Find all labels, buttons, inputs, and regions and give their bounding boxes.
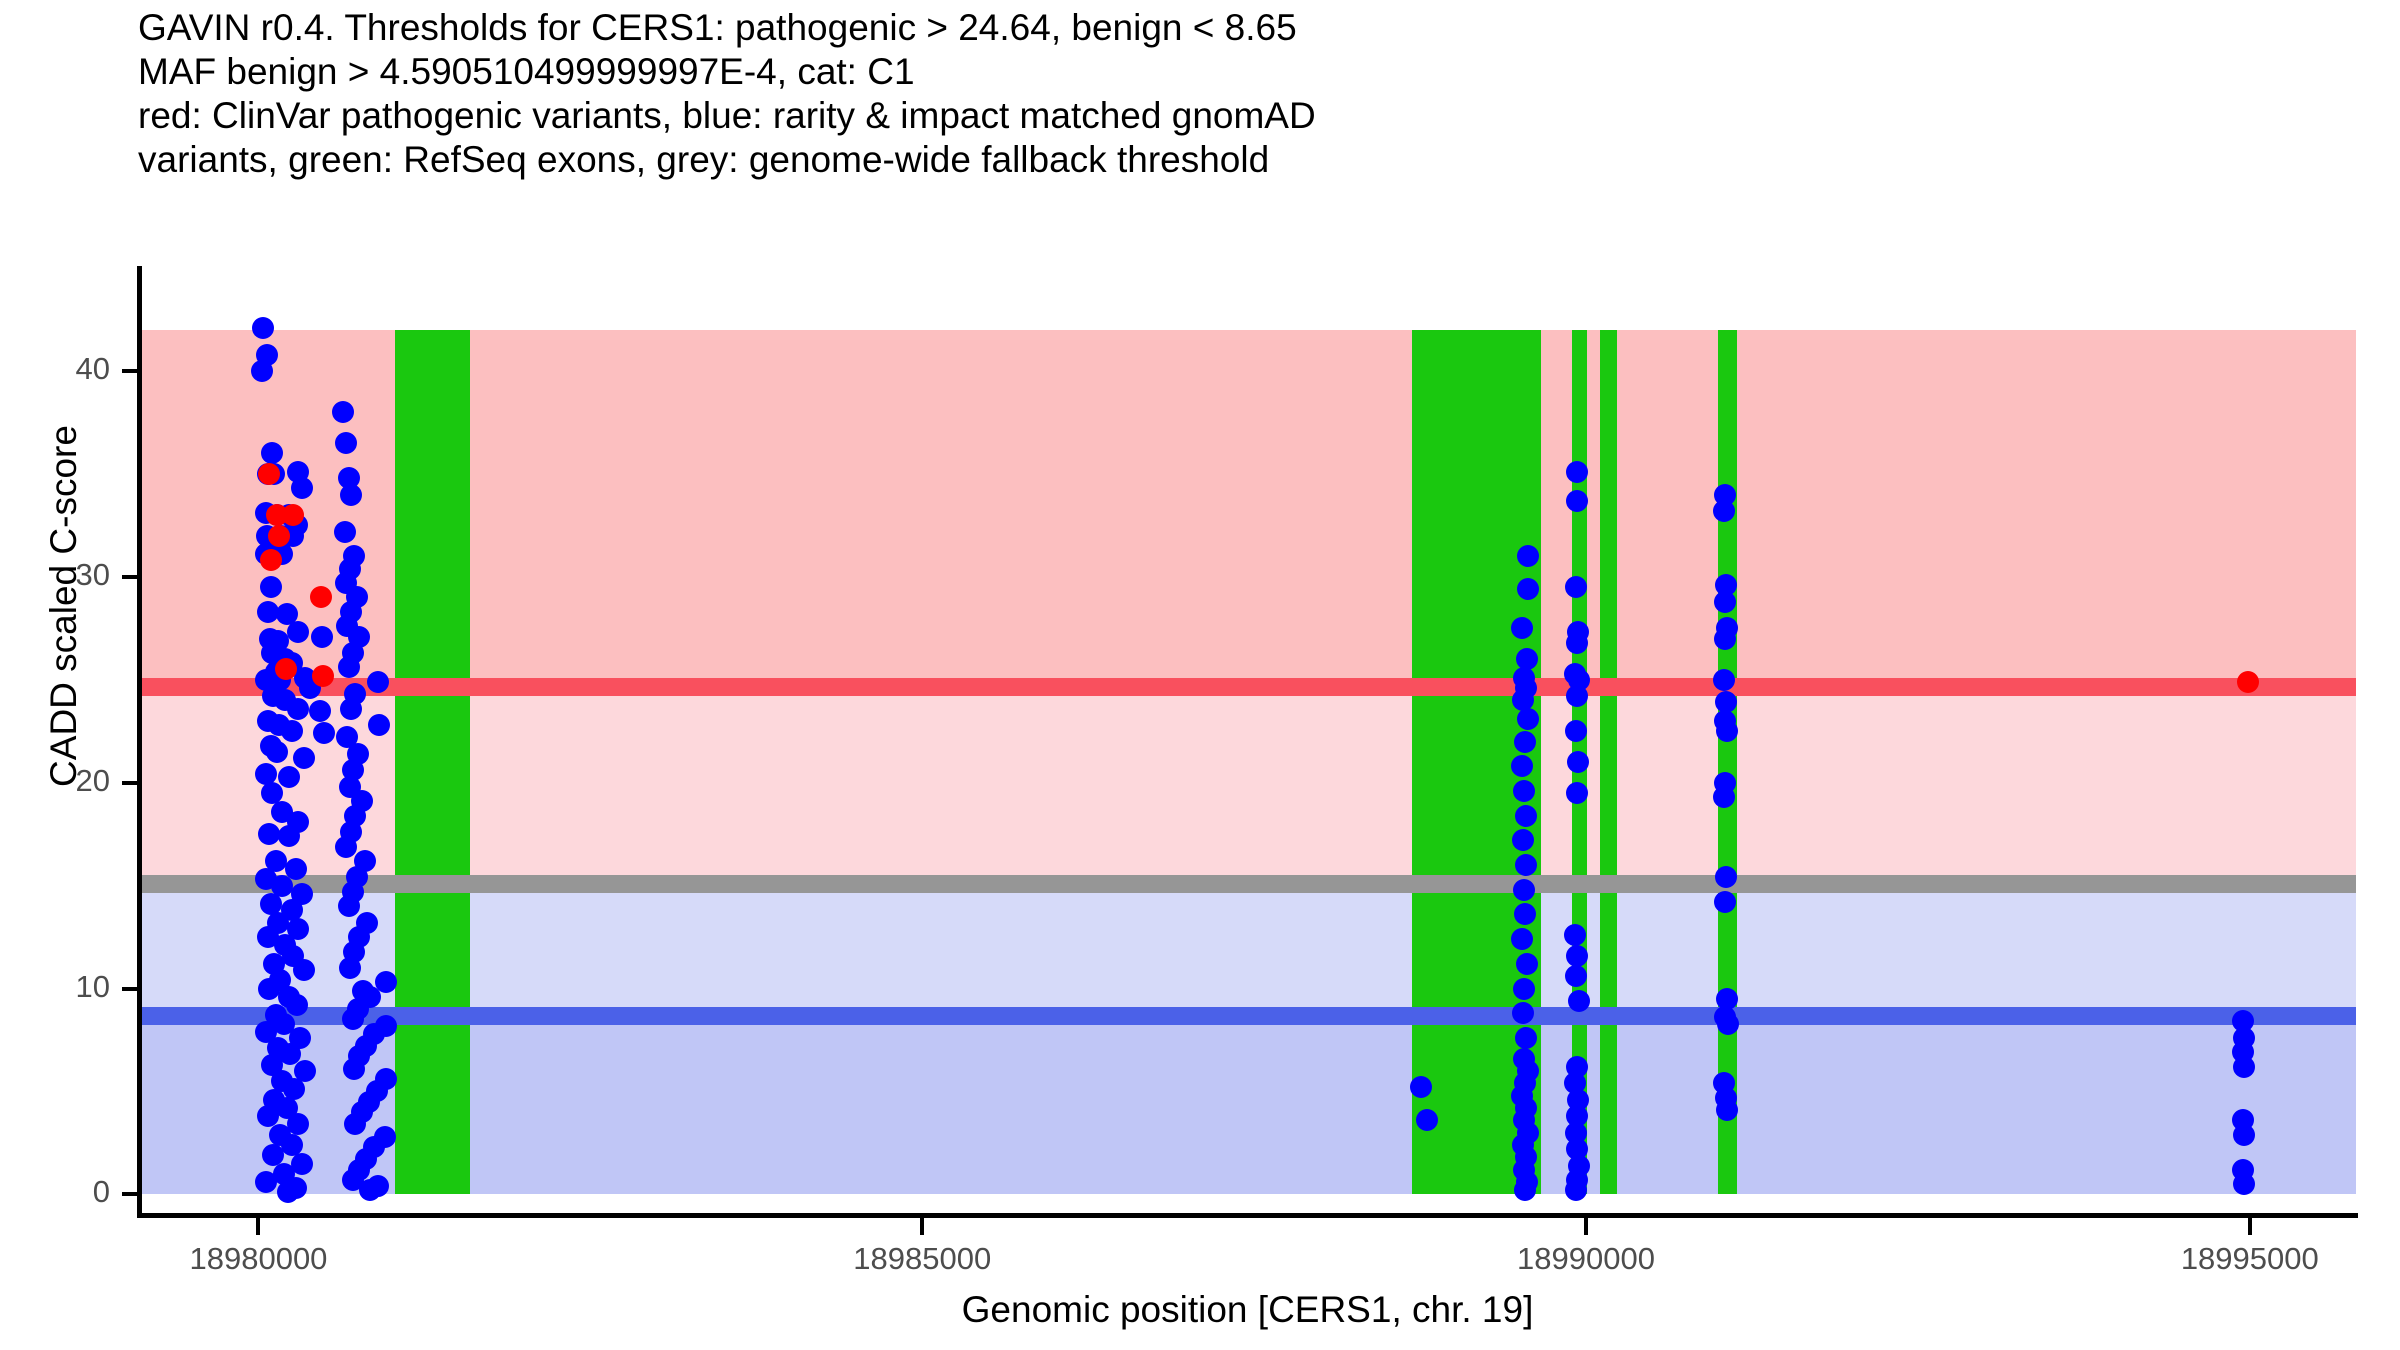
- title-line-2: MAF benign > 4.590510499999997E-4, cat: …: [138, 50, 2378, 94]
- y-axis-title-wrap: CADD scaled C-score: [0, 0, 60, 1350]
- clinvar-point: [260, 549, 282, 571]
- gnomad-point: [1516, 953, 1538, 975]
- gnomad-point: [1567, 751, 1589, 773]
- clinvar-point: [258, 463, 280, 485]
- gnomad-point: [1713, 500, 1735, 522]
- y-axis-tick: [122, 575, 139, 579]
- y-axis-tick: [122, 369, 139, 373]
- gnomad-point: [1716, 720, 1738, 742]
- gnomad-point: [1515, 854, 1537, 876]
- gnomad-point: [258, 978, 280, 1000]
- gnomad-point: [1568, 990, 1590, 1012]
- x-axis-tick: [2248, 1218, 2252, 1235]
- y-axis-tick-label: 0: [0, 1174, 110, 1210]
- gnomad-point: [334, 521, 356, 543]
- gnomad-point: [1513, 879, 1535, 901]
- gnomad-point: [1713, 669, 1735, 691]
- exon-band: [1600, 330, 1617, 1195]
- gnomad-point: [2233, 1124, 2255, 1146]
- title-line-1: GAVIN r0.4. Thresholds for CERS1: pathog…: [138, 6, 2378, 50]
- gnomad-point: [1714, 891, 1736, 913]
- vus-band: [139, 687, 2356, 883]
- gnomad-point: [277, 1181, 299, 1203]
- gnomad-point: [1515, 805, 1537, 827]
- pathogenic-threshold-line: [139, 678, 2356, 696]
- benign-threshold-line: [139, 1007, 2356, 1025]
- gnomad-point: [367, 671, 389, 693]
- y-axis-tick-label: 30: [0, 557, 110, 593]
- gnomad-point: [311, 626, 333, 648]
- x-axis-tick: [920, 1218, 924, 1235]
- gnomad-point: [340, 698, 362, 720]
- y-axis-tick: [122, 1192, 139, 1196]
- gnomad-point: [1714, 628, 1736, 650]
- y-axis-tick-label: 10: [0, 969, 110, 1005]
- clinvar-point: [268, 525, 290, 547]
- gnomad-point: [252, 317, 274, 339]
- chart-root: GAVIN r0.4. Thresholds for CERS1: pathog…: [0, 0, 2400, 1350]
- gnomad-point: [2233, 1173, 2255, 1195]
- gnomad-point: [359, 1179, 381, 1201]
- x-axis-line: [137, 1213, 2358, 1218]
- gnomad-point: [335, 432, 357, 454]
- title-line-4: variants, green: RefSeq exons, grey: gen…: [138, 138, 2378, 182]
- gnomad-point: [1517, 708, 1539, 730]
- fallback-threshold-line: [139, 875, 2356, 893]
- x-axis-tick-label: 18990000: [1436, 1241, 1736, 1277]
- gnomad-point: [1566, 632, 1588, 654]
- chart-title-block: GAVIN r0.4. Thresholds for CERS1: pathog…: [138, 6, 2378, 182]
- gnomad-point: [1566, 945, 1588, 967]
- gnomad-point: [1514, 731, 1536, 753]
- clinvar-point: [312, 665, 334, 687]
- y-axis-line: [137, 266, 142, 1215]
- title-line-3: red: ClinVar pathogenic variants, blue: …: [138, 94, 2378, 138]
- gnomad-point: [293, 747, 315, 769]
- gnomad-point: [339, 957, 361, 979]
- gnomad-point: [343, 1058, 365, 1080]
- gnomad-point: [1515, 1027, 1537, 1049]
- gnomad-point: [1565, 1179, 1587, 1201]
- gnomad-point: [338, 656, 360, 678]
- gnomad-point: [266, 741, 288, 763]
- gnomad-point: [342, 1008, 364, 1030]
- gnomad-point: [1717, 1013, 1739, 1035]
- gnomad-point: [335, 836, 357, 858]
- gnomad-point: [1514, 1179, 1536, 1201]
- benign-band: [139, 1016, 2356, 1194]
- plot-panel: [139, 266, 2356, 1215]
- gnomad-point: [293, 959, 315, 981]
- y-axis-tick: [122, 987, 139, 991]
- x-axis-tick: [1584, 1218, 1588, 1235]
- gnomad-point: [1566, 490, 1588, 512]
- gnomad-point: [261, 442, 283, 464]
- gnomad-point: [1513, 978, 1535, 1000]
- plot-area: [139, 266, 2356, 1215]
- fallback-benign-band: [139, 884, 2356, 1017]
- gnomad-point: [1566, 782, 1588, 804]
- gnomad-point: [286, 994, 308, 1016]
- gnomad-point: [287, 698, 309, 720]
- gnomad-point: [340, 484, 362, 506]
- exon-band: [1718, 330, 1737, 1195]
- y-axis-tick: [122, 781, 139, 785]
- x-axis-tick: [256, 1218, 260, 1235]
- gnomad-point: [1517, 545, 1539, 567]
- x-axis-tick-label: 18995000: [2100, 1241, 2400, 1277]
- gnomad-point: [260, 576, 282, 598]
- gnomad-point: [281, 720, 303, 742]
- gnomad-point: [309, 700, 331, 722]
- pathogenic-band: [139, 330, 2356, 687]
- gnomad-point: [338, 895, 360, 917]
- gnomad-point: [278, 766, 300, 788]
- y-axis-tick-label: 20: [0, 763, 110, 799]
- exon-band: [395, 330, 470, 1195]
- gnomad-point: [313, 722, 335, 744]
- x-axis-tick-label: 18985000: [772, 1241, 1072, 1277]
- gnomad-point: [1714, 591, 1736, 613]
- y-axis-tick-label: 40: [0, 351, 110, 387]
- gnomad-point: [2233, 1056, 2255, 1078]
- gnomad-point: [1416, 1109, 1438, 1131]
- x-axis-title: Genomic position [CERS1, chr. 19]: [139, 1289, 2356, 1331]
- x-axis-tick-label: 18980000: [108, 1241, 408, 1277]
- gnomad-point: [1566, 461, 1588, 483]
